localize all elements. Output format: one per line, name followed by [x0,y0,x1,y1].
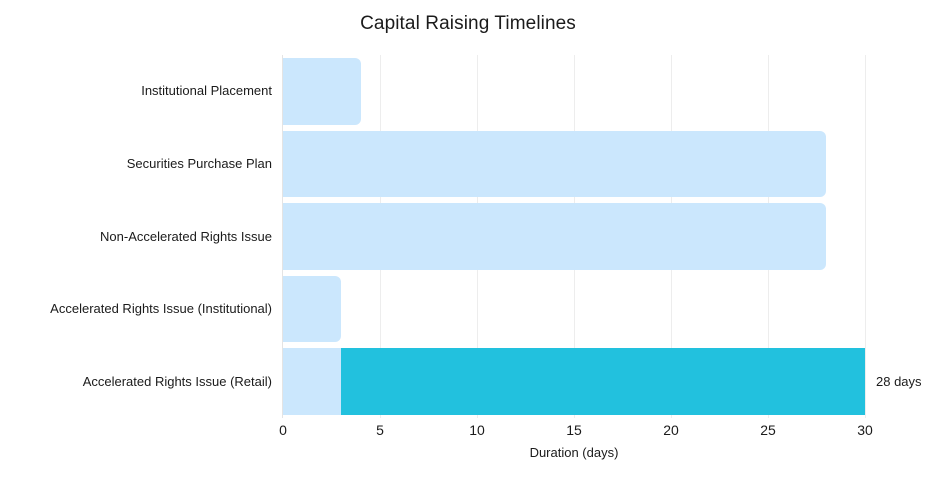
y-axis-tick-label: Institutional Placement [0,83,272,99]
x-axis-tick-label: 5 [376,421,384,439]
x-axis-tick-label: 30 [857,421,873,439]
x-axis-tick-label: 20 [663,421,679,439]
gridline [865,55,866,418]
x-axis-tick-labels: 051015202530 [283,421,865,441]
chart-title: Capital Raising Timelines [0,12,936,36]
bar [283,348,341,415]
x-axis-tick-label: 15 [566,421,582,439]
bar [283,203,826,270]
bar [283,276,341,343]
bar-row [283,203,865,270]
x-axis-title: Duration (days) [283,444,865,461]
x-axis-tick-label: 25 [760,421,776,439]
y-axis-category-labels: Institutional PlacementSecurities Purcha… [0,55,272,418]
bar-row [283,348,865,415]
bar-segment-highlight [341,348,865,415]
y-axis-tick-label: Securities Purchase Plan [0,156,272,172]
y-axis-tick-label: Accelerated Rights Issue (Retail) [0,374,272,390]
x-axis-tick-label: 0 [279,421,287,439]
bar-row [283,276,865,343]
y-axis-tick-label: Accelerated Rights Issue (Institutional) [0,301,272,317]
bar-row [283,58,865,125]
y-axis-tick-label: Non-Accelerated Rights Issue [0,229,272,245]
bar [283,131,826,198]
plot-area [283,55,865,418]
chart-container: Capital Raising Timelines Institutional … [0,0,936,479]
bar [283,58,361,125]
bar-rows [283,55,865,418]
x-axis-tick-label: 10 [469,421,485,439]
bar-value-annotation: 28 days [876,374,922,390]
bar-row [283,131,865,198]
